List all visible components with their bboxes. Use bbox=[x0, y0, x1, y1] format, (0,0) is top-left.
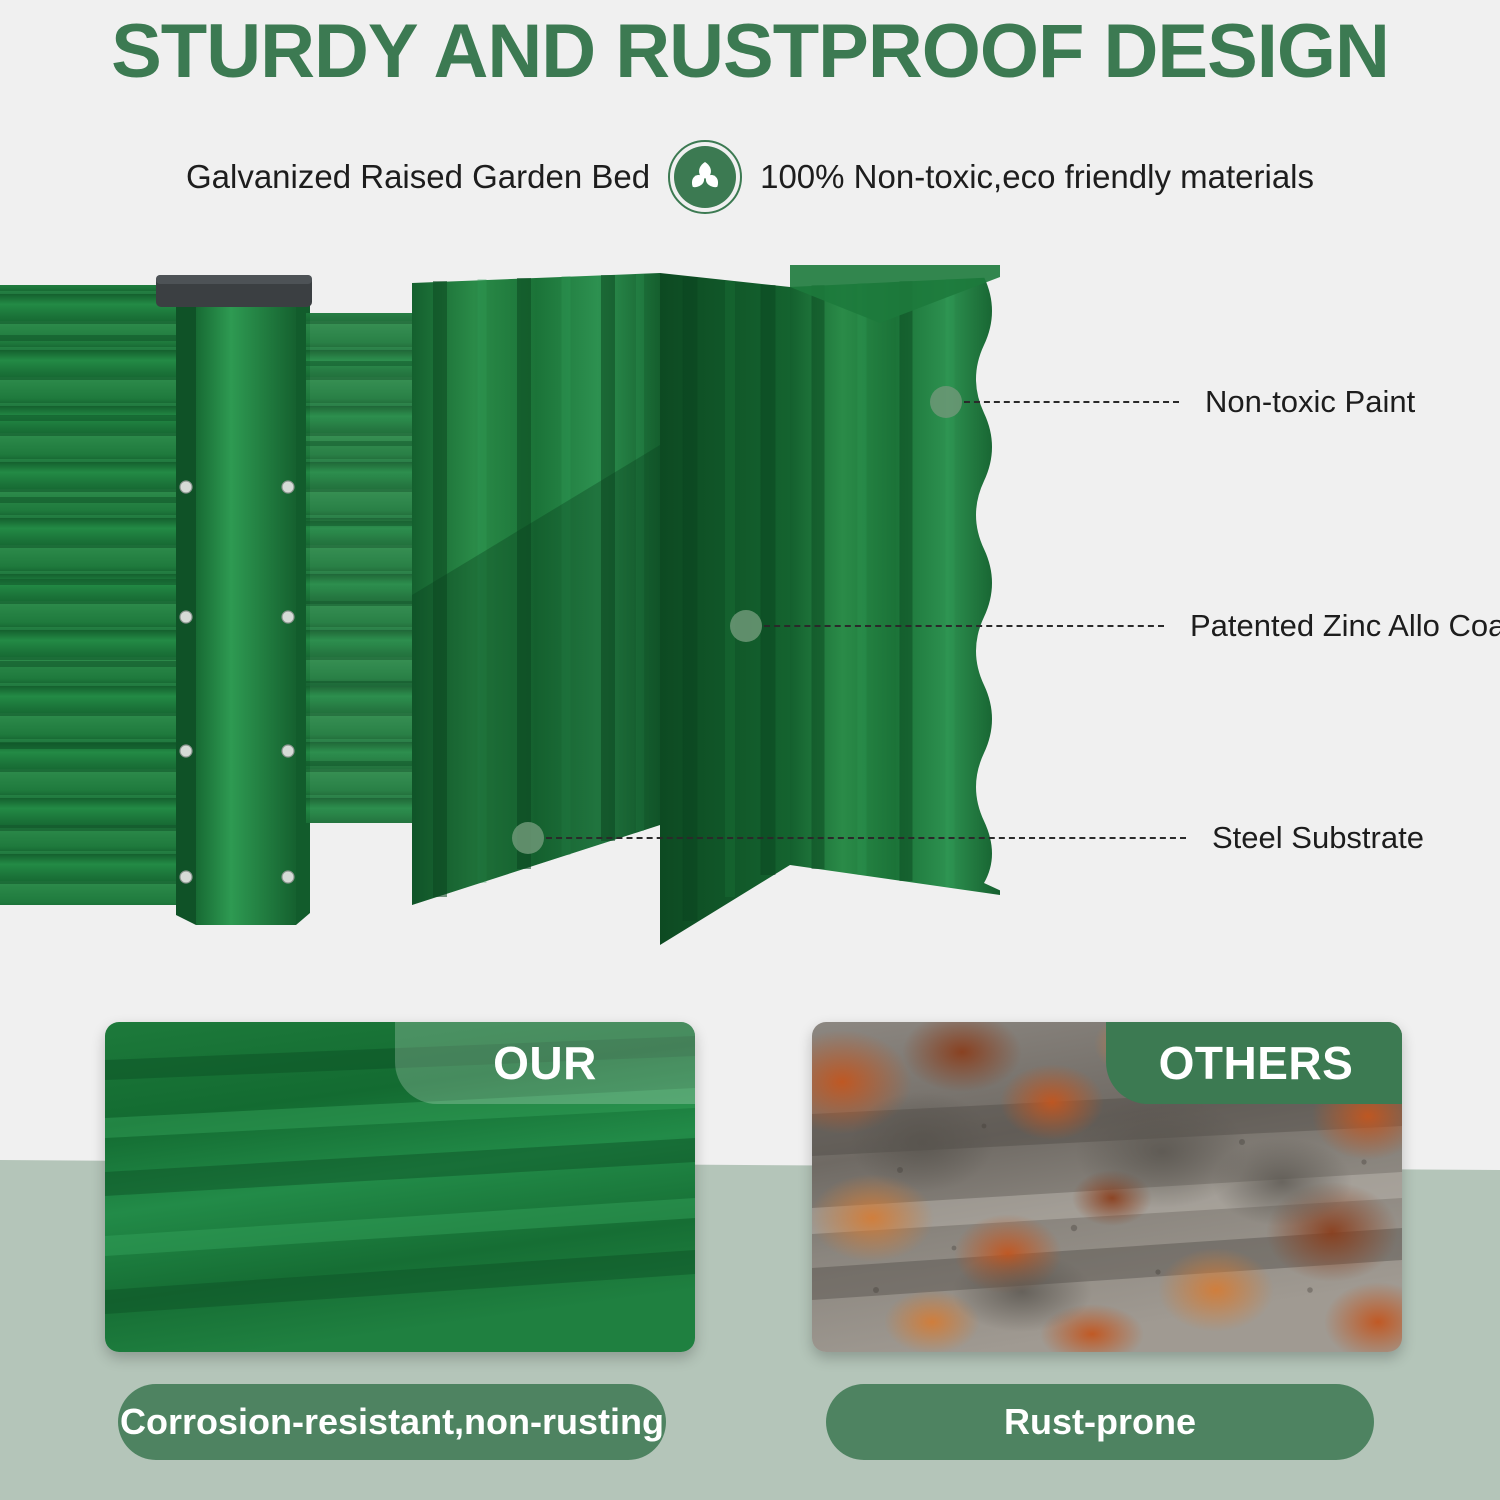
subtitle-row: Galvanized Raised Garden Bed 100% Non-to… bbox=[0, 140, 1500, 214]
callout-dot-icon bbox=[512, 822, 544, 854]
recycle-leaf-icon-inner bbox=[674, 146, 736, 208]
callout-label: Patented Zinc Allo Coating bbox=[1190, 608, 1500, 644]
caption-our: Corrosion-resistant,non-rusting bbox=[118, 1384, 666, 1460]
badge-others: OTHERS bbox=[1106, 1022, 1402, 1104]
page-title: STURDY AND RUSTPROOF DESIGN bbox=[0, 8, 1500, 95]
comparison-card-our: OUR bbox=[105, 1022, 695, 1352]
callout-label: Non-toxic Paint bbox=[1205, 384, 1415, 420]
comparison-card-others: OTHERS bbox=[812, 1022, 1402, 1352]
callout-non-toxic-paint: Non-toxic Paint bbox=[930, 382, 1415, 422]
callout-zinc-coating: Patented Zinc Allo Coating bbox=[730, 606, 1500, 646]
callout-dot-icon bbox=[730, 610, 762, 642]
callout-steel-substrate: Steel Substrate bbox=[512, 818, 1424, 858]
infographic-page: STURDY AND RUSTPROOF DESIGN Galvanized R… bbox=[0, 0, 1500, 1500]
callout-leader-line bbox=[964, 401, 1179, 403]
callout-leader-line bbox=[546, 837, 1186, 839]
subtitle-left: Galvanized Raised Garden Bed bbox=[186, 158, 650, 196]
badge-our: OUR bbox=[395, 1022, 695, 1104]
caption-others: Rust-prone bbox=[826, 1384, 1374, 1460]
callout-label: Steel Substrate bbox=[1212, 820, 1424, 856]
recycle-leaf-icon bbox=[668, 140, 742, 214]
callout-leader-line bbox=[764, 625, 1164, 627]
subtitle-right: 100% Non-toxic,eco friendly materials bbox=[760, 158, 1314, 196]
callout-dot-icon bbox=[930, 386, 962, 418]
